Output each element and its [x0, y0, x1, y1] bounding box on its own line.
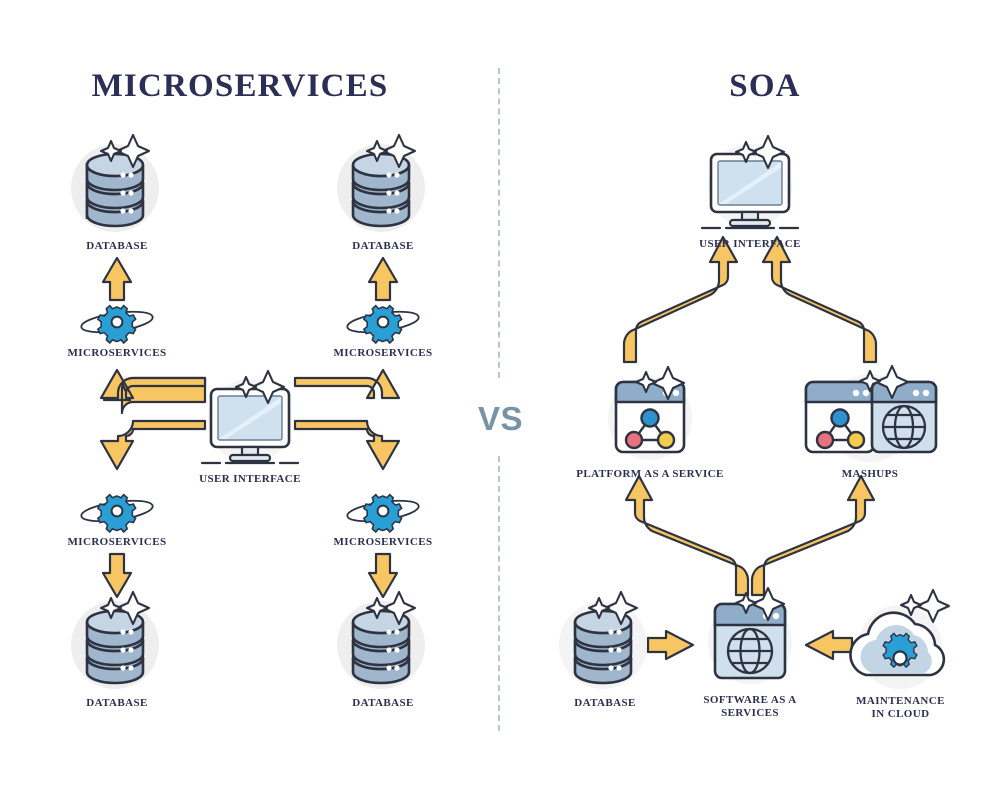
- node-ms-lower-right[interactable]: MICROSERVICES: [318, 489, 448, 549]
- diagram-canvas: MICROSERVICES SOA VS .ar{fill:#f7c663;st…: [0, 0, 1000, 800]
- database-icon: [323, 590, 443, 695]
- node-db-top-right[interactable]: DATABASE: [323, 133, 443, 253]
- node-label: MICROSERVICES: [52, 347, 182, 360]
- node-ms-upper-left[interactable]: MICROSERVICES: [52, 300, 182, 360]
- node-label: PLATFORM AS A SERVICE: [558, 468, 742, 481]
- cloud-gear-icon: [838, 595, 963, 693]
- node-label: DATABASE: [57, 240, 177, 253]
- database-icon: [57, 133, 177, 238]
- gear-orbit-icon: [52, 489, 182, 533]
- node-label: MICROSERVICES: [318, 536, 448, 549]
- node-label: MICROSERVICES: [318, 347, 448, 360]
- node-label: MICROSERVICES: [52, 536, 182, 549]
- node-label: DATABASE: [323, 240, 443, 253]
- node-label: SOFTWARE AS A SERVICES: [690, 694, 810, 720]
- monitor-icon: [690, 138, 810, 236]
- database-icon: [545, 590, 665, 695]
- node-ms-lower-left[interactable]: MICROSERVICES: [52, 489, 182, 549]
- arrow-ui-to-ms-lower-right: [295, 421, 399, 469]
- arrow-saas-to-paas: [626, 476, 748, 595]
- node-ms-upper-right[interactable]: MICROSERVICES: [318, 300, 448, 360]
- node-db-bottom-left[interactable]: DATABASE: [57, 590, 177, 710]
- database-icon: [323, 133, 443, 238]
- gear-orbit-icon: [318, 489, 448, 533]
- gear-orbit-icon: [52, 300, 182, 344]
- gear-orbit-icon: [318, 300, 448, 344]
- right-section-title: SOA: [530, 68, 1000, 105]
- browser-network-globe-icon: [790, 370, 950, 465]
- node-soa-database[interactable]: DATABASE: [545, 590, 665, 710]
- node-label: MASHUPS: [790, 468, 950, 481]
- node-soa-user-interface[interactable]: USER INTERFACE: [690, 138, 810, 251]
- section-divider-top: [498, 68, 500, 378]
- node-paas[interactable]: PLATFORM AS A SERVICE: [558, 370, 742, 481]
- browser-network-icon: [558, 370, 742, 465]
- node-db-bottom-right[interactable]: DATABASE: [323, 590, 443, 710]
- node-db-top-left[interactable]: DATABASE: [57, 133, 177, 253]
- arrow-paas-to-ui: [624, 237, 737, 362]
- vs-label: VS: [478, 400, 523, 438]
- monitor-icon: [190, 373, 310, 471]
- node-label: MAINTENANCE IN CLOUD: [838, 695, 963, 721]
- node-mashups[interactable]: MASHUPS: [790, 370, 950, 481]
- node-label: USER INTERFACE: [690, 238, 810, 251]
- arrow-ms-upper-left-to-db: [103, 258, 131, 300]
- node-label: DATABASE: [323, 697, 443, 710]
- node-label: USER INTERFACE: [190, 473, 310, 486]
- browser-globe-icon: [690, 592, 810, 692]
- section-divider-bottom: [498, 456, 500, 731]
- node-maintenance[interactable]: MAINTENANCE IN CLOUD: [838, 595, 963, 721]
- node-user-interface[interactable]: USER INTERFACE: [190, 373, 310, 486]
- node-saas[interactable]: SOFTWARE AS A SERVICES: [690, 592, 810, 720]
- left-section-title: MICROSERVICES: [0, 68, 480, 105]
- database-icon: [57, 590, 177, 695]
- node-label: DATABASE: [545, 697, 665, 710]
- arrow-ui-to-ms-upper-right: [295, 370, 399, 398]
- arrow-ms-upper-right-to-db: [369, 258, 397, 300]
- node-label: DATABASE: [57, 697, 177, 710]
- arrow-saas-to-mashups: [752, 476, 874, 595]
- arrow-mashups-to-ui: [763, 237, 876, 362]
